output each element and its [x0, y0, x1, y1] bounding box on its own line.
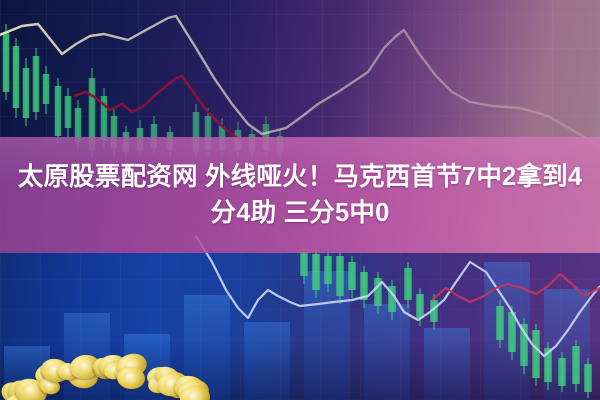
- headline-text-block: 太原股票配资网 外线哑火！马克西首节7中2拿到4 分4助 三分5中0: [0, 137, 600, 253]
- headline-line-2: 分4助 三分5中0: [211, 196, 390, 230]
- thumbnail-image: 太原股票配资网 外线哑火！马克西首节7中2拿到4 分4助 三分5中0: [0, 0, 600, 400]
- headline-banner: 太原股票配资网 外线哑火！马克西首节7中2拿到4 分4助 三分5中0: [0, 137, 600, 253]
- gold-coin-pile: [0, 336, 234, 400]
- headline-line-1: 太原股票配资网 外线哑火！马克西首节7中2拿到4: [18, 160, 582, 194]
